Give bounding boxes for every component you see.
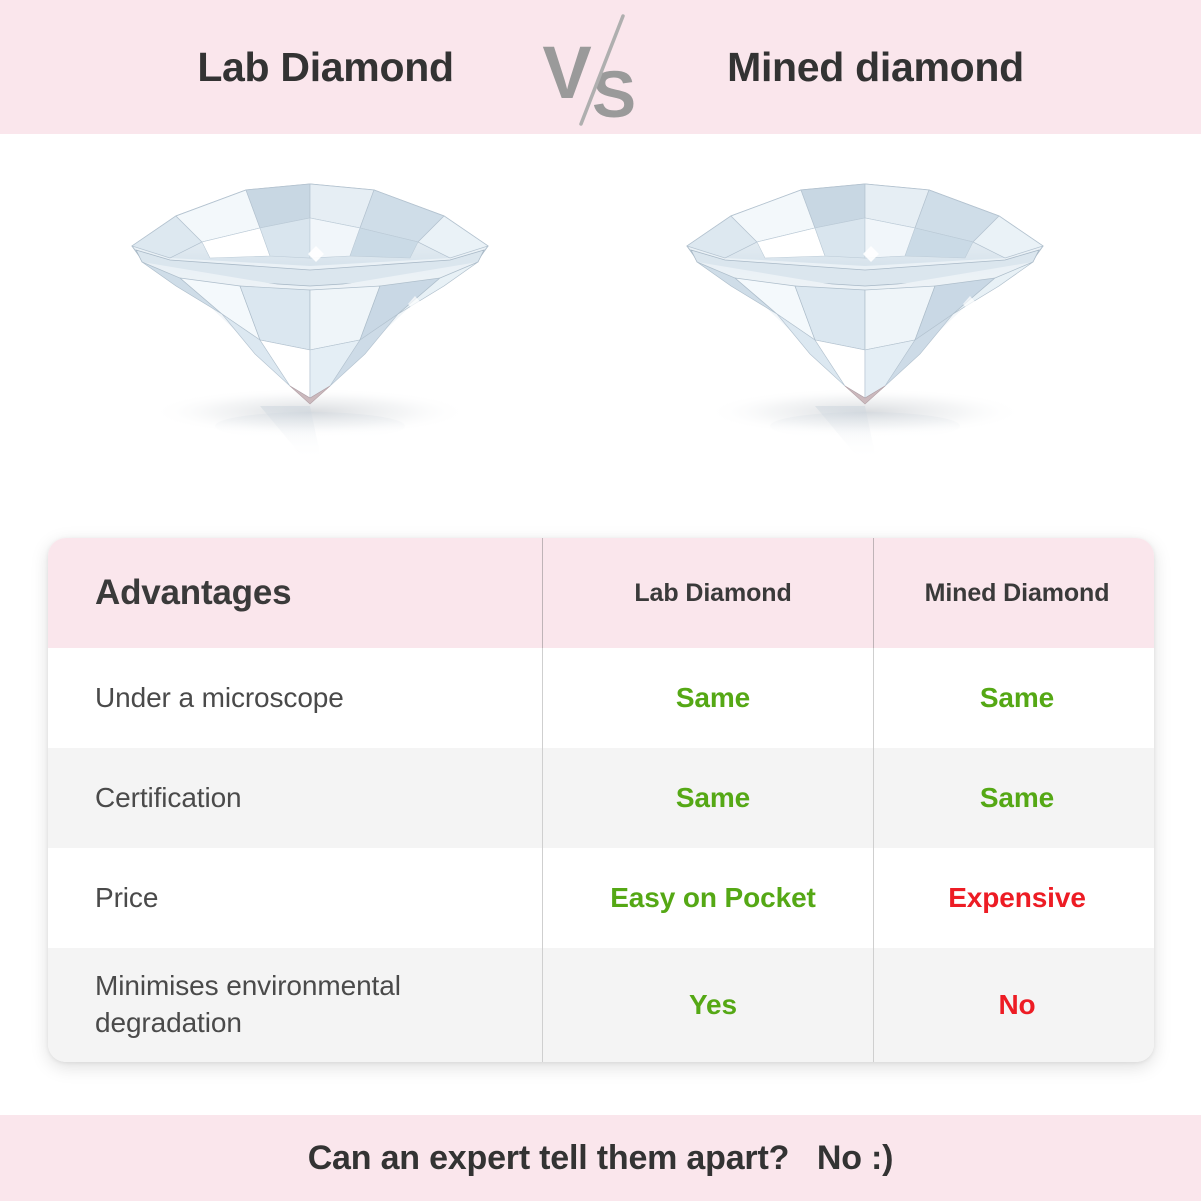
header-label-advantages: Advantages	[95, 573, 291, 613]
infographic-root: Lab Diamond V S Mined diamond	[0, 0, 1201, 1201]
header-cell-lab-diamond: Lab Diamond	[542, 538, 873, 648]
right-title: Mined diamond	[661, 44, 1091, 91]
lab-value: Same	[676, 682, 750, 714]
bottom-banner: Can an expert tell them apart? No :)	[0, 1115, 1201, 1201]
mined-value: Same	[980, 682, 1054, 714]
row-mined-cell: Same	[873, 748, 1154, 848]
svg-text:S: S	[591, 57, 635, 131]
top-banner: Lab Diamond V S Mined diamond	[0, 0, 1201, 134]
header-cell-mined-diamond: Mined Diamond	[873, 538, 1154, 648]
header-label-lab-diamond: Lab Diamond	[634, 579, 791, 608]
row-mined-cell: Same	[873, 648, 1154, 748]
row-lab-cell: Same	[542, 748, 873, 848]
table-header-row: Advantages Lab Diamond Mined Diamond	[48, 538, 1154, 648]
row-lab-cell: Yes	[542, 948, 873, 1062]
lab-value: Easy on Pocket	[610, 882, 816, 914]
header-label-mined-diamond: Mined Diamond	[925, 579, 1110, 608]
feature-label: Minimises environmental degradation	[95, 968, 528, 1042]
lab-value: Same	[676, 782, 750, 814]
mined-value: Same	[980, 782, 1054, 814]
mined-value: Expensive	[948, 882, 1086, 914]
lab-diamond-image	[110, 154, 510, 484]
row-feature-cell: Certification	[48, 748, 542, 848]
feature-label: Certification	[95, 780, 242, 817]
table-row: Under a microscope Same Same	[48, 648, 1154, 748]
table-row: Price Easy on Pocket Expensive	[48, 848, 1154, 948]
row-feature-cell: Minimises environmental degradation	[48, 948, 542, 1062]
lab-value: Yes	[689, 989, 737, 1021]
table-row: Certification Same Same	[48, 748, 1154, 848]
row-feature-cell: Price	[48, 848, 542, 948]
row-lab-cell: Same	[542, 648, 873, 748]
comparison-table: Advantages Lab Diamond Mined Diamond Und…	[48, 538, 1154, 1062]
row-feature-cell: Under a microscope	[48, 648, 542, 748]
header-cell-advantages: Advantages	[48, 538, 542, 648]
svg-text:V: V	[542, 31, 591, 114]
mined-diamond-image	[665, 154, 1065, 484]
row-lab-cell: Easy on Pocket	[542, 848, 873, 948]
feature-label: Price	[95, 880, 158, 917]
vs-slash-icon: V S	[541, 0, 661, 134]
row-mined-cell: Expensive	[873, 848, 1154, 948]
diamond-hero-area	[0, 134, 1201, 534]
footer-question: Can an expert tell them apart? No :)	[308, 1139, 894, 1178]
table-row: Minimises environmental degradation Yes …	[48, 948, 1154, 1062]
mined-value: No	[998, 989, 1035, 1021]
row-mined-cell: No	[873, 948, 1154, 1062]
feature-label: Under a microscope	[95, 680, 344, 717]
left-title: Lab Diamond	[111, 44, 541, 91]
